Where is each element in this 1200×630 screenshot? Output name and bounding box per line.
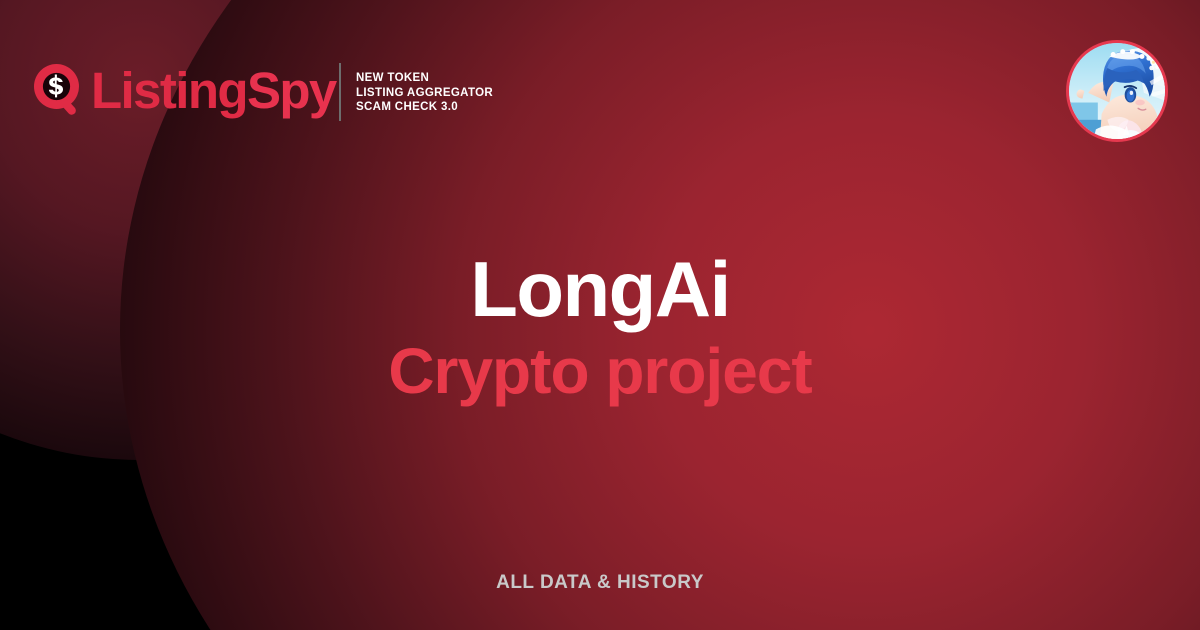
brand-tagline: NEW TOKEN LISTING AGGREGATOR SCAM CHECK … (356, 71, 493, 115)
hero-block: LongAi Crypto project (0, 246, 1200, 408)
header: ListingSpy NEW TOKEN LISTING AGGREGATOR … (0, 0, 1200, 160)
anime-girl-avatar-icon (1069, 43, 1165, 139)
page-subtitle: Crypto project (0, 334, 1200, 408)
brand-wordmark-spy: Spy (247, 62, 336, 119)
footer-caption: ALL DATA & HISTORY (0, 572, 1200, 594)
tagline-line-2: LISTING AGGREGATOR (356, 86, 493, 101)
tagline-line-3: SCAM CHECK 3.0 (356, 100, 493, 115)
brand-wordmark: ListingSpy (91, 65, 336, 116)
avatar[interactable] (1066, 40, 1168, 142)
brand-wordmark-listing: Listing (91, 62, 247, 119)
brand-logo[interactable]: ListingSpy (33, 55, 336, 125)
brand-divider (339, 63, 341, 121)
magnifier-dollar-icon (33, 63, 85, 117)
page-title: LongAi (0, 246, 1200, 332)
tagline-line-1: NEW TOKEN (356, 71, 493, 86)
page-content: ListingSpy NEW TOKEN LISTING AGGREGATOR … (0, 0, 1200, 630)
